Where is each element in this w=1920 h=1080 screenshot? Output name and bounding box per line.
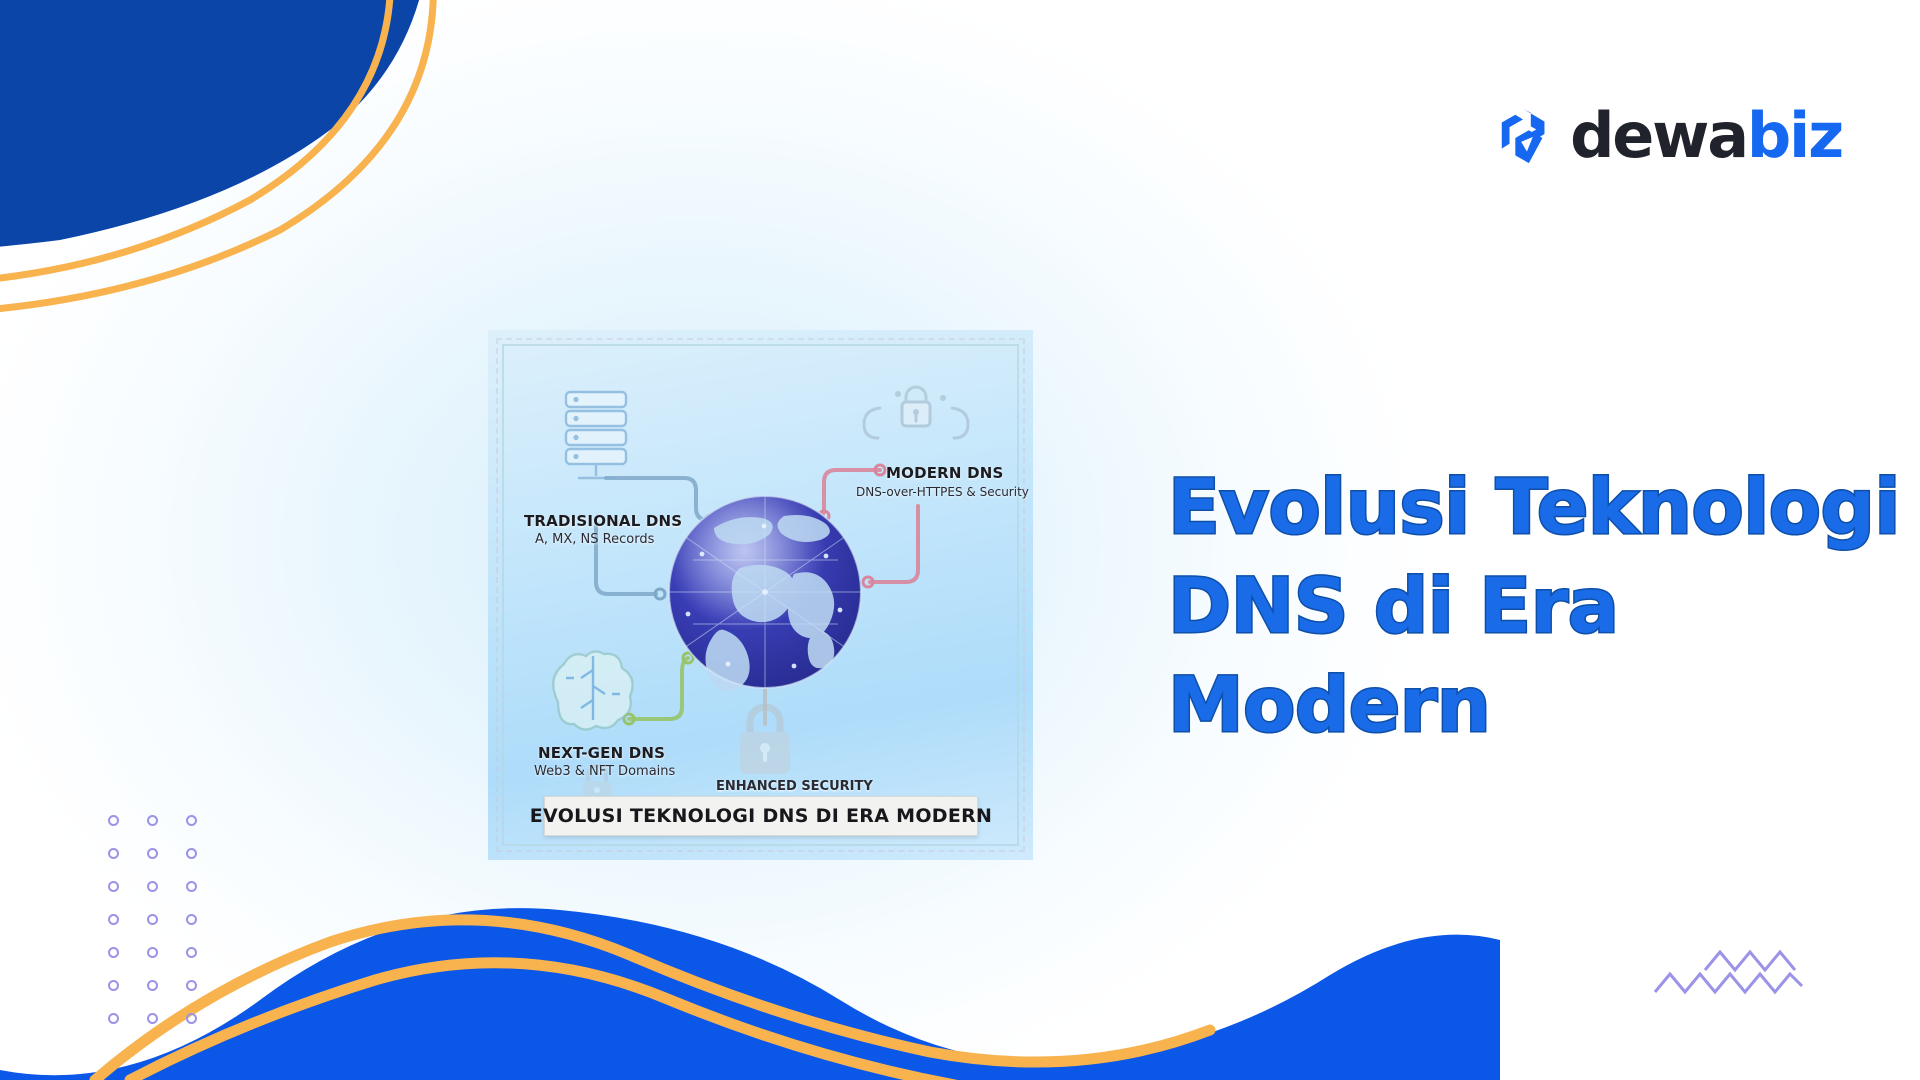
- brain-circuit-icon: [553, 651, 632, 729]
- node-label-enhanced-security-title: ENHANCED SECURITY: [716, 779, 873, 794]
- infographic-caption-text: EVOLUSI TEKNOLOGI DNS DI ERA MODERN: [530, 805, 993, 827]
- bottom-decorative-wave: [0, 880, 1500, 1080]
- top-left-decorative-blob: [0, 0, 560, 340]
- infographic-caption-banner: EVOLUSI TEKNOLOGI DNS DI ERA MODERN: [544, 796, 978, 836]
- node-label-modern-dns-title: MODERN DNS: [886, 464, 1004, 482]
- dot-grid-row: [108, 980, 197, 991]
- grid-dot: [147, 881, 158, 892]
- dot-grid-row: [108, 914, 197, 925]
- grid-dot: [186, 980, 197, 991]
- connector-node-dot: [655, 589, 665, 599]
- logo-word-dewa: dewa: [1570, 99, 1747, 172]
- dot-grid-row: [108, 1013, 197, 1024]
- node-label-next-gen-dns-title: NEXT-GEN DNS: [538, 744, 665, 762]
- globe-network-icon: [669, 496, 861, 691]
- dot-grid-row: [108, 881, 197, 892]
- zigzag-line-bottom: [1655, 974, 1802, 992]
- headline-line-1: Evolusi Teknologi: [1168, 458, 1908, 557]
- zigzag-decoration: [1650, 940, 1840, 1000]
- grid-dot: [186, 881, 197, 892]
- dot-grid-row: [108, 848, 197, 859]
- grid-dot: [108, 1013, 119, 1024]
- grid-dot: [108, 980, 119, 991]
- headline-line-3: Modern: [1168, 656, 1908, 755]
- node-label-traditional-dns-sub: A, MX, NS Records: [535, 532, 654, 547]
- dot-grid-decoration: [108, 815, 197, 1046]
- dewabiz-logo[interactable]: dewabiz: [1494, 105, 1842, 167]
- grid-dot: [147, 980, 158, 991]
- grid-dot: [147, 914, 158, 925]
- logo-wordmark: dewabiz: [1570, 105, 1842, 167]
- dot-grid-row: [108, 815, 197, 826]
- grid-dot: [147, 1013, 158, 1024]
- grid-dot: [186, 947, 197, 958]
- grid-dot: [186, 848, 197, 859]
- node-label-traditional-dns-title: TRADISIONAL DNS: [524, 512, 682, 530]
- grid-dot: [147, 815, 158, 826]
- page-title: Evolusi Teknologi DNS di Era Modern: [1168, 458, 1908, 754]
- grid-dot: [108, 848, 119, 859]
- grid-dot: [186, 914, 197, 925]
- cloud-lock-icon: [864, 387, 968, 438]
- dns-evolution-infographic: TRADISIONAL DNS A, MX, NS Records MODERN…: [488, 330, 1033, 860]
- connector-nextgen: [629, 658, 688, 719]
- grid-dot: [108, 947, 119, 958]
- node-label-modern-dns-sub: DNS-over-HTTPES & Security: [856, 485, 1029, 499]
- connector-modern-bottom: [870, 506, 918, 582]
- grid-dot: [147, 848, 158, 859]
- grid-dot: [108, 914, 119, 925]
- grid-dot: [108, 815, 119, 826]
- blue-blob-shape: [0, 0, 430, 250]
- grid-dot: [186, 815, 197, 826]
- zigzag-line-top: [1705, 952, 1795, 970]
- grid-dot: [108, 881, 119, 892]
- grid-dot: [147, 947, 158, 958]
- logo-word-biz: biz: [1747, 99, 1842, 172]
- headline-line-2: DNS di Era: [1168, 557, 1908, 656]
- dewabiz-hexagon-icon: [1494, 105, 1556, 167]
- server-rack-icon: [566, 392, 626, 478]
- grid-dot: [186, 1013, 197, 1024]
- dot-grid-row: [108, 947, 197, 958]
- node-label-next-gen-dns-sub: Web3 & NFT Domains: [534, 764, 675, 779]
